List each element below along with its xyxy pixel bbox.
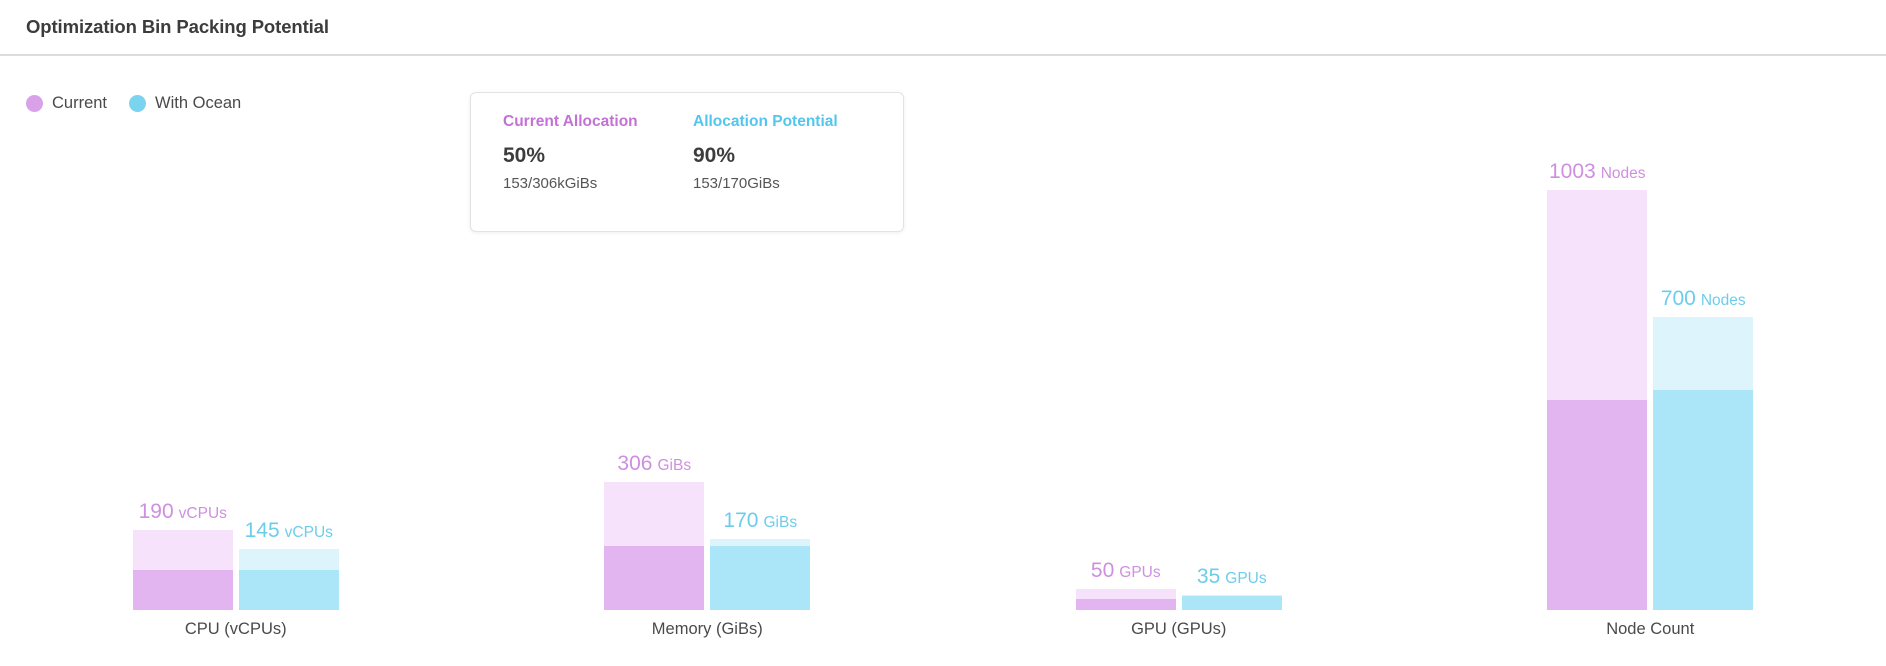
bar-current[interactable]: 50GPUs	[1076, 589, 1176, 610]
bar-value-number: 700	[1661, 287, 1696, 310]
bar-value-label: 145vCPUs	[245, 520, 333, 541]
bar-value-number: 306	[617, 452, 652, 475]
bar-rect[interactable]	[1547, 190, 1647, 610]
bar-unused-segment	[1076, 589, 1176, 599]
axis-label-memory-gibs: Memory (GiBs)	[472, 620, 944, 639]
bar-allocated-segment	[1182, 596, 1282, 610]
bar-unused-segment	[710, 539, 810, 546]
bar-rect[interactable]	[1653, 317, 1753, 610]
panel-header: Optimization Bin Packing Potential	[0, 0, 1886, 56]
bar-value-unit: Nodes	[1601, 165, 1646, 182]
bar-unused-segment	[239, 549, 339, 570]
bar-allocated-segment	[604, 546, 704, 610]
bar-rect[interactable]	[239, 549, 339, 610]
bar-with-ocean[interactable]: 35GPUs	[1182, 595, 1282, 610]
bar-rect[interactable]	[133, 530, 233, 610]
bar-value-unit: vCPUs	[285, 524, 333, 541]
bar-with-ocean[interactable]: 170GiBs	[710, 539, 810, 610]
bar-group: 50GPUs35GPUs	[943, 56, 1415, 610]
bar-value-number: 170	[723, 509, 758, 532]
bar-value-label: 700Nodes	[1661, 288, 1746, 309]
bar-group: 1003Nodes700Nodes	[1415, 56, 1886, 610]
bar-value-label: 306GiBs	[617, 453, 691, 474]
bar-value-number: 190	[139, 500, 174, 523]
bar-value-label: 50GPUs	[1091, 560, 1161, 581]
bar-group-inner: 306GiBs170GiBs	[472, 56, 944, 610]
bar-allocated-segment	[1076, 599, 1176, 610]
bar-unused-segment	[1653, 317, 1753, 390]
chart-plot-area: 190vCPUs145vCPUs306GiBs170GiBs50GPUs35GP…	[0, 56, 1886, 610]
bar-value-label: 1003Nodes	[1549, 161, 1646, 182]
bar-rect[interactable]	[1076, 589, 1176, 610]
bar-with-ocean[interactable]: 700Nodes	[1653, 317, 1753, 610]
bar-value-unit: Nodes	[1701, 292, 1746, 309]
bar-allocated-segment	[1547, 400, 1647, 610]
bar-value-label: 170GiBs	[723, 510, 797, 531]
bar-rect[interactable]	[710, 539, 810, 610]
bar-value-label: 190vCPUs	[139, 501, 227, 522]
bar-value-number: 145	[245, 519, 280, 542]
bar-unused-segment	[133, 530, 233, 570]
bar-current[interactable]: 1003Nodes	[1547, 190, 1647, 610]
bar-rect[interactable]	[1182, 595, 1282, 610]
bar-value-unit: GPUs	[1225, 570, 1266, 587]
bar-group-inner: 1003Nodes700Nodes	[1415, 56, 1886, 610]
bar-group-inner: 50GPUs35GPUs	[943, 56, 1415, 610]
bar-unused-segment	[604, 482, 704, 546]
bar-current[interactable]: 190vCPUs	[133, 530, 233, 610]
bar-rect[interactable]	[604, 482, 704, 610]
optimization-bin-packing-panel: Optimization Bin Packing Potential Curre…	[0, 0, 1886, 666]
bar-value-number: 35	[1197, 565, 1220, 588]
axis-label-cpu-vcpus: CPU (vCPUs)	[0, 620, 472, 639]
bar-value-unit: GiBs	[763, 514, 797, 531]
bar-value-unit: GiBs	[657, 457, 691, 474]
bar-group-inner: 190vCPUs145vCPUs	[0, 56, 472, 610]
axis-label-node-count: Node Count	[1415, 620, 1886, 639]
page-title: Optimization Bin Packing Potential	[26, 16, 329, 38]
axis-label-gpu-gpus: GPU (GPUs)	[943, 620, 1415, 639]
bar-allocated-segment	[1653, 390, 1753, 610]
bar-allocated-segment	[710, 546, 810, 610]
bar-allocated-segment	[239, 570, 339, 610]
bar-current[interactable]: 306GiBs	[604, 482, 704, 610]
bar-value-number: 50	[1091, 559, 1114, 582]
bar-unused-segment	[1547, 190, 1647, 400]
bar-value-label: 35GPUs	[1197, 566, 1267, 587]
bar-value-unit: vCPUs	[179, 505, 227, 522]
bar-value-number: 1003	[1549, 160, 1596, 183]
bar-with-ocean[interactable]: 145vCPUs	[239, 549, 339, 610]
bar-value-unit: GPUs	[1119, 564, 1160, 581]
bar-group: 306GiBs170GiBs	[472, 56, 944, 610]
bar-allocated-segment	[133, 570, 233, 610]
bar-group: 190vCPUs145vCPUs	[0, 56, 472, 610]
